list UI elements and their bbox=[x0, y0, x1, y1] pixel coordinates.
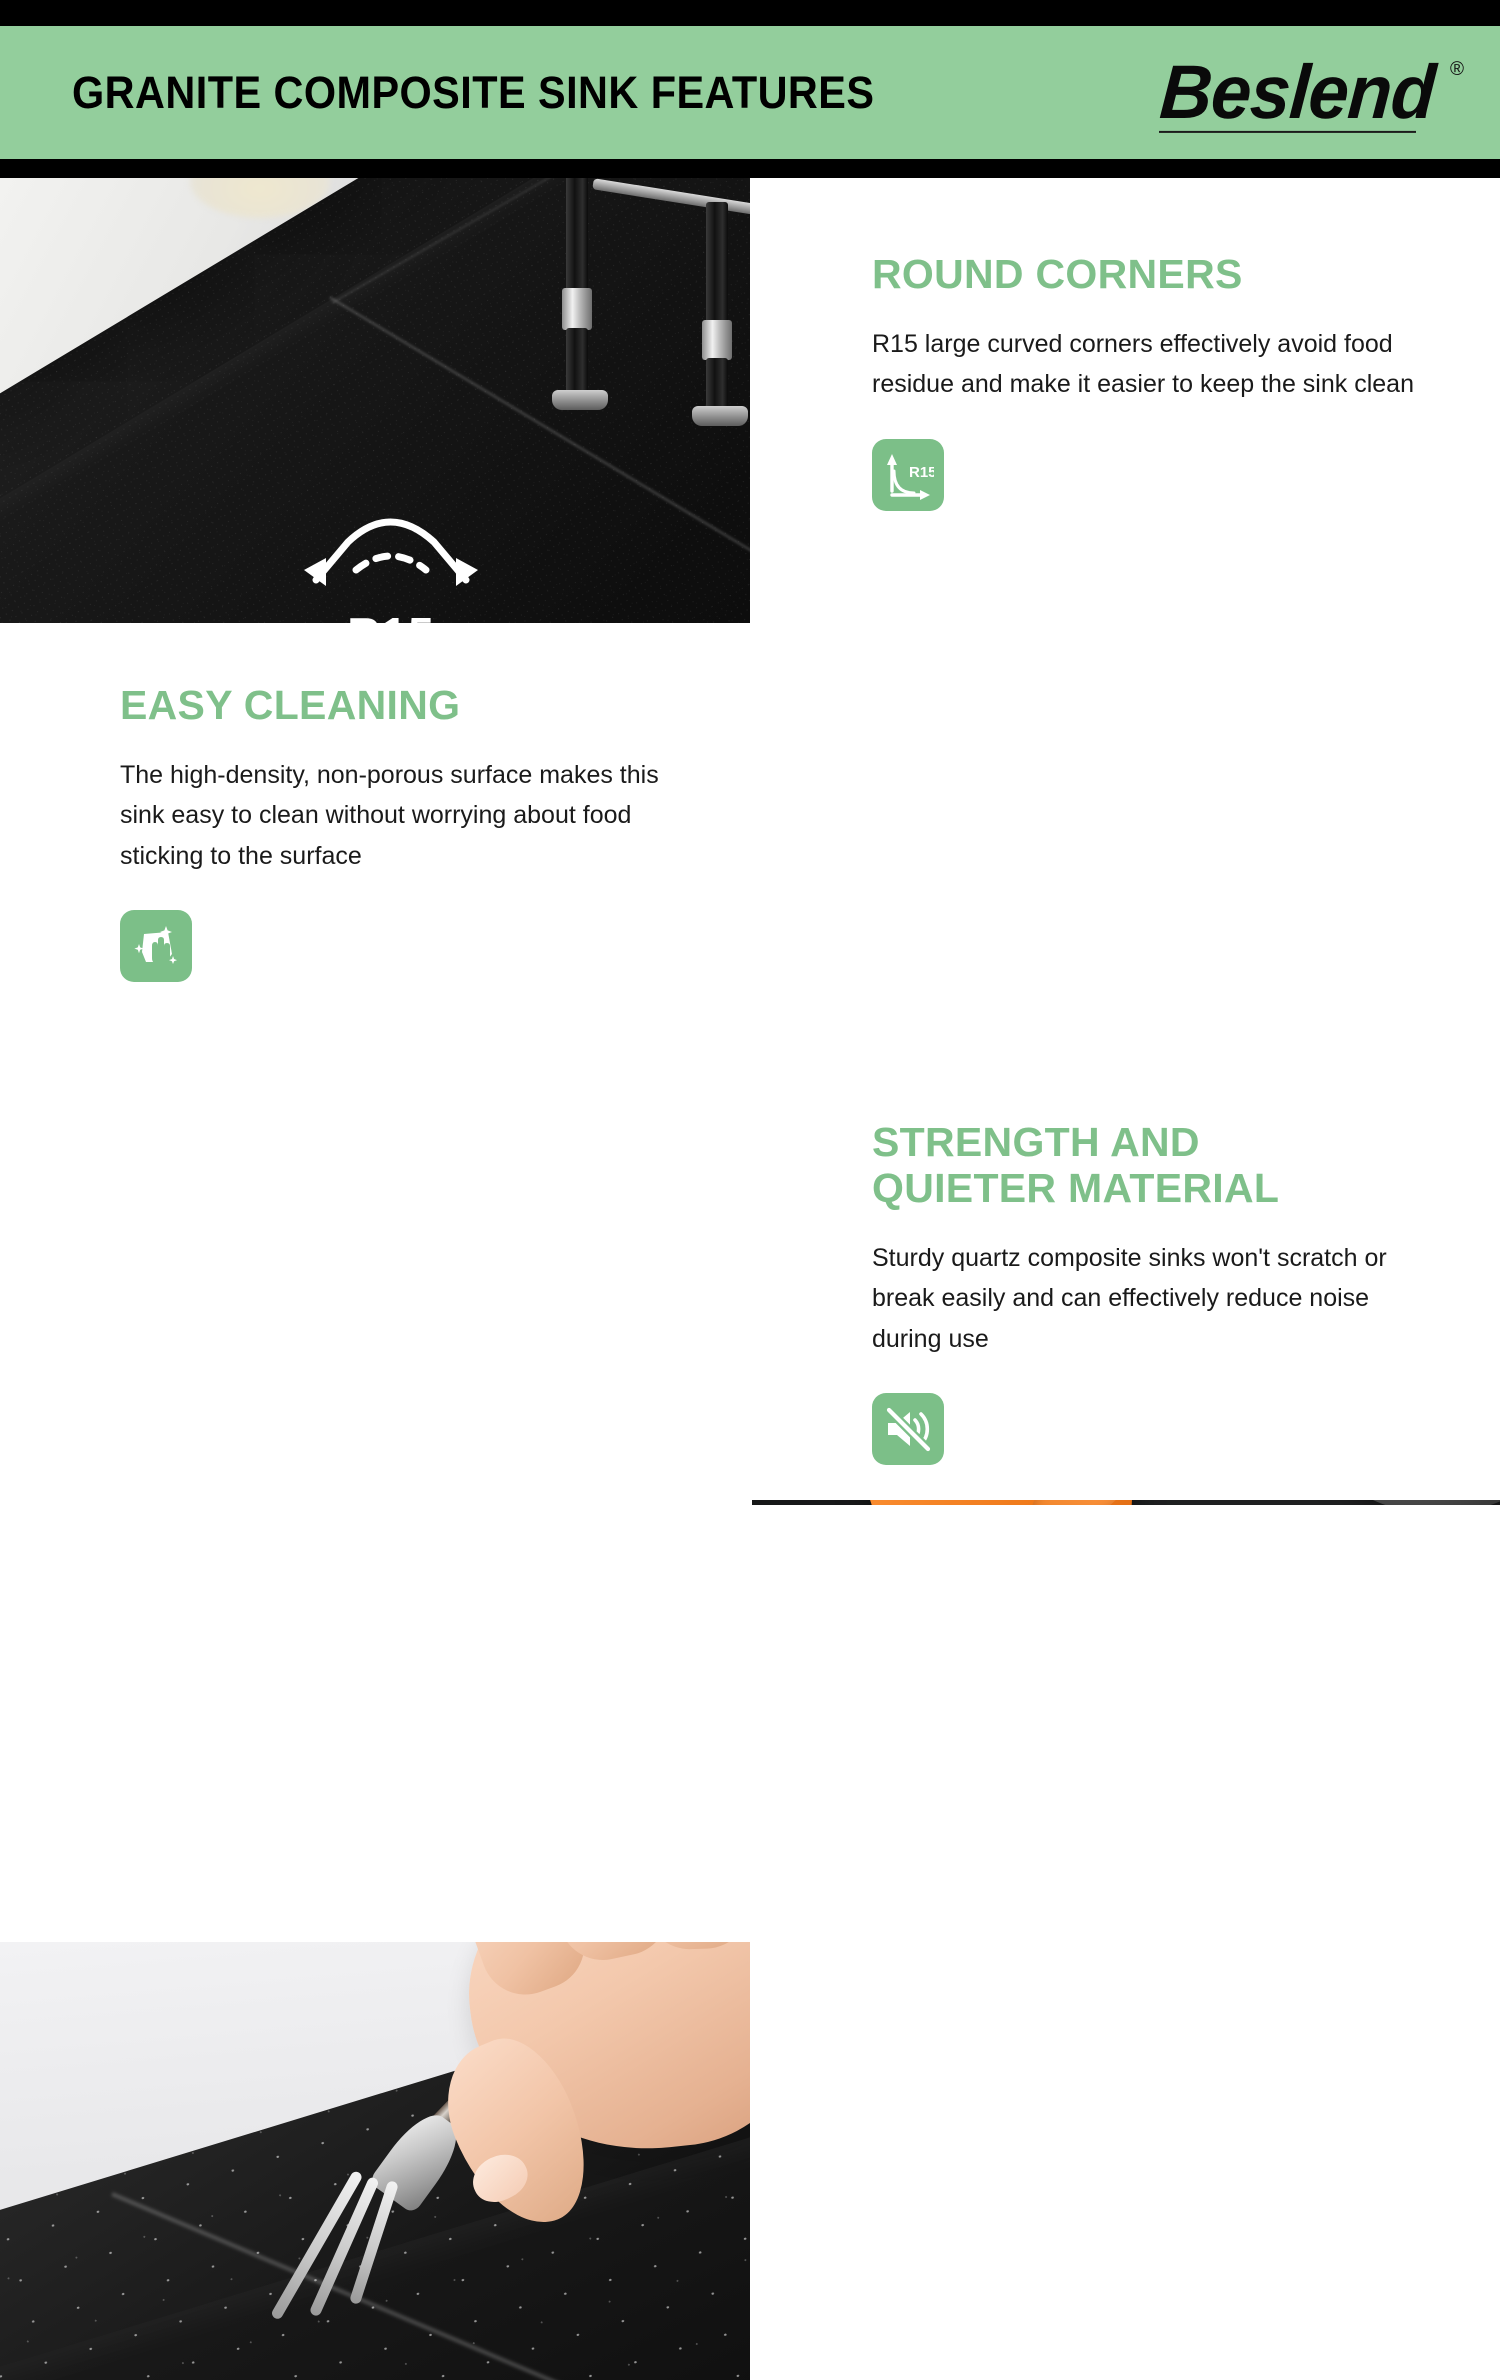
feature-panel-round-corners: ROUND CORNERS R15 large curved corners e… bbox=[752, 178, 1500, 623]
faucet-pipe-upper bbox=[566, 178, 588, 292]
registered-trademark-icon: ® bbox=[1450, 58, 1464, 80]
r15-annotation: R15 bbox=[286, 508, 496, 623]
brand-logo: Beslend ® bbox=[1153, 56, 1442, 128]
feature-title-easy-cleaning: EASY CLEANING bbox=[120, 683, 690, 729]
header-banner: GRANITE COMPOSITE SINK FEATURES Beslend … bbox=[0, 26, 1500, 159]
header-top-black-bar bbox=[0, 0, 1500, 26]
second-faucet-pipe-upper bbox=[706, 202, 728, 324]
r15-corner-radius-icon: R15 bbox=[872, 439, 944, 511]
fork-scratch-photo bbox=[0, 1942, 750, 2380]
page-title: GRANITE COMPOSITE SINK FEATURES bbox=[72, 67, 944, 119]
feature-title-strength: STRENGTH AND QUIETER MATERIAL bbox=[872, 1120, 1440, 1212]
muted-speaker-glyph bbox=[882, 1403, 934, 1455]
feature-body-easy-cleaning: The high-density, non-porous surface mak… bbox=[120, 755, 668, 877]
sink-corner-photo: R15 bbox=[0, 178, 750, 623]
svg-text:R15: R15 bbox=[909, 464, 934, 481]
faucet-base bbox=[552, 390, 608, 410]
feature-body-round-corners: R15 large curved corners effectively avo… bbox=[872, 324, 1420, 405]
hand-ring-knuckle bbox=[643, 1942, 750, 1951]
muted-speaker-icon bbox=[872, 1393, 944, 1465]
feature-body-strength: Sturdy quartz composite sinks won't scra… bbox=[872, 1238, 1420, 1360]
r15-overlay-label: R15 bbox=[286, 607, 496, 623]
brand-logo-underline bbox=[1159, 131, 1416, 133]
r15-arrow-icon bbox=[286, 508, 496, 600]
second-faucet-chrome-collar bbox=[702, 320, 732, 360]
brand-logo-text: Beslend bbox=[1158, 56, 1437, 128]
infographic-page: GRANITE COMPOSITE SINK FEATURES Beslend … bbox=[0, 0, 1500, 1500]
hand-index-knuckle bbox=[455, 1942, 597, 2007]
hand-wiping-sparkle-icon bbox=[120, 910, 192, 982]
page-title-text: GRANITE COMPOSITE SINK FEATURES bbox=[72, 67, 874, 119]
feature-panel-strength: STRENGTH AND QUIETER MATERIAL Sturdy qua… bbox=[752, 1062, 1500, 1500]
second-faucet-pipe-lower bbox=[706, 358, 728, 412]
feature-title-round-corners: ROUND CORNERS bbox=[872, 252, 1440, 298]
r15-corner-radius-glyph: R15 bbox=[882, 449, 934, 501]
feature-panel-easy-cleaning: EASY CLEANING The high-density, non-poro… bbox=[0, 625, 750, 1060]
faucet-chrome-collar bbox=[562, 288, 592, 330]
faucet-pipe-lower bbox=[566, 328, 588, 396]
features-grid: R15 ROUND CORNERS R15 large curved corne… bbox=[0, 178, 1500, 1500]
hand-wiping-sparkle-glyph bbox=[130, 920, 182, 972]
header-bottom-black-bar bbox=[0, 159, 1500, 178]
second-faucet-base bbox=[692, 406, 748, 426]
